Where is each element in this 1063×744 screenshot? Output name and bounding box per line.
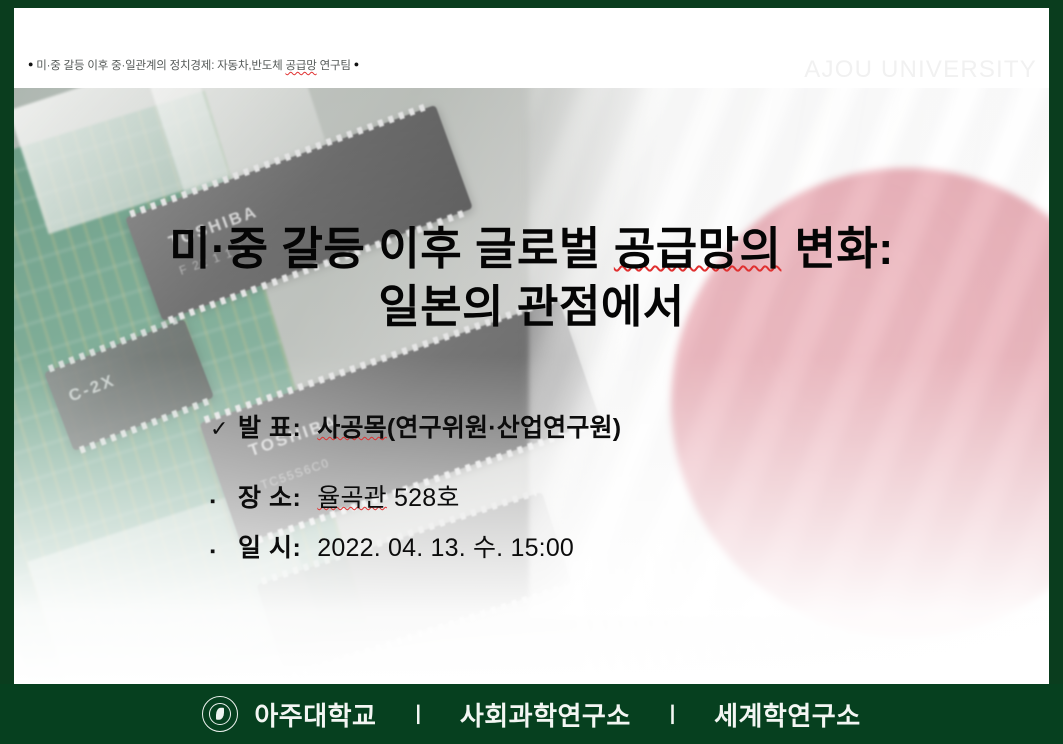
presenter-label: 발 표: — [238, 408, 301, 444]
datetime-value: 2022. 04. 13. 수. 15:00 — [317, 528, 574, 564]
presentation-slide: C-2X TOSHIBA F 22 1 1 1 TOSHIBA TC55S6C0… — [0, 0, 1063, 744]
title-line1-after: 변화: — [781, 223, 893, 274]
slide-header-strip: ● 미·중 갈등 이후 중·일관계의 정치경제: 자동차,반도체 공급망 연구팀… — [14, 8, 1049, 88]
list-item-presenter: ✓ 발 표: 사공목(연구위원·산업연구원) — [210, 408, 910, 444]
footer-branding: 아주대학교 ㅣ 사회과학연구소 ㅣ 세계학연구소 — [202, 696, 860, 733]
emblem-center-glyph — [216, 708, 224, 720]
slide-content: 미·중 갈등 이후 글로벌 공급망의 변화: 일본의 관점에서 ✓ 발 표: 사… — [14, 88, 1049, 684]
datetime-label: 일 시: — [238, 528, 301, 564]
slide-canvas: C-2X TOSHIBA F 22 1 1 1 TOSHIBA TC55S6C0… — [14, 8, 1049, 684]
list-item-datetime: ▪ 일 시: 2022. 04. 13. 수. 15:00 — [210, 528, 910, 564]
slide-title: 미·중 갈등 이후 글로벌 공급망의 변화: 일본의 관점에서 — [14, 220, 1049, 335]
title-line1-before: 미·중 갈등 이후 글로벌 — [169, 223, 614, 274]
title-line1-misspelled: 공급망의 — [614, 223, 782, 274]
ajou-university-emblem-icon — [202, 696, 238, 732]
header-text-after: 연구팀 — [317, 60, 351, 72]
presenter-value: 사공목(연구위원·산업연구원) — [317, 408, 621, 444]
header-text-misspelled: 공급망 — [285, 60, 316, 72]
location-value: 율곡관 528호 — [317, 478, 459, 514]
square-marker-icon: ▪ — [210, 494, 238, 509]
title-line2: 일본의 관점에서 — [378, 281, 684, 332]
footer-separator: ㅣ — [392, 699, 443, 729]
location-building-misspelled: 율곡관 — [317, 484, 387, 512]
footer-institute-world-studies: 세계학연구소 — [714, 696, 861, 733]
research-team-header: ● 미·중 갈등 이후 중·일관계의 정치경제: 자동차,반도체 공급망 연구팀… — [28, 57, 359, 73]
presenter-affiliation: (연구위원·산업연구원) — [387, 414, 621, 442]
location-label: 장 소: — [238, 478, 301, 514]
slide-footer-bar: 아주대학교 ㅣ 사회과학연구소 ㅣ 세계학연구소 — [0, 684, 1063, 744]
ajou-university-watermark: AJOU UNIVERSITY — [804, 56, 1037, 84]
header-bullet-right-icon: ● — [354, 59, 359, 69]
footer-university-name: 아주대학교 — [254, 696, 376, 733]
presenter-name-misspelled: 사공목 — [317, 414, 387, 442]
check-marker-icon: ✓ — [210, 418, 238, 440]
header-text-before: 미·중 갈등 이후 중·일관계의 정치경제: 자동차,반도체 — [36, 60, 285, 72]
square-marker-icon: ▪ — [210, 544, 238, 559]
list-item-location: ▪ 장 소: 율곡관 528호 — [210, 478, 910, 514]
header-bullet-left-icon: ● — [28, 59, 33, 69]
footer-institute-social-science: 사회과학연구소 — [460, 696, 631, 733]
location-room: 528호 — [387, 484, 460, 512]
slide-detail-list: ✓ 발 표: 사공목(연구위원·산업연구원) ▪ 장 소: 율곡관 528호 ▪… — [210, 408, 910, 578]
footer-separator: ㅣ — [647, 699, 698, 729]
